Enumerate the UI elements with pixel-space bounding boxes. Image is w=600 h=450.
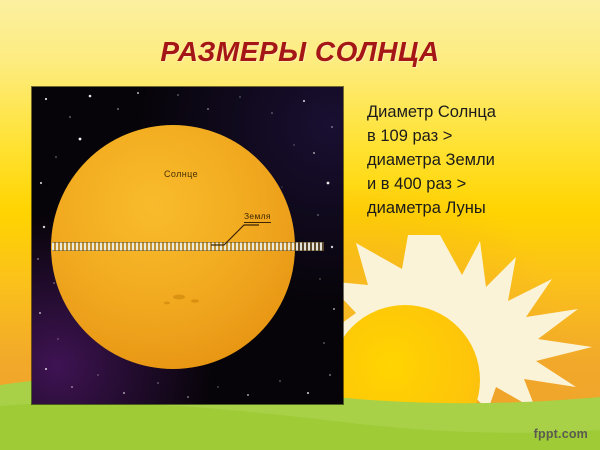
body-line-4: и в 400 раз >: [367, 172, 592, 196]
body-line-2: в 109 раз >: [367, 124, 592, 148]
body-line-1: Диаметр Солнца: [367, 100, 592, 124]
earth-leader-line: [210, 217, 260, 247]
sun-label: Солнце: [164, 169, 198, 179]
body-text: Диаметр Солнца в 109 раз > диаметра Земл…: [367, 100, 592, 220]
watermark-fppt: fppt.com: [534, 427, 588, 441]
slide-canvas: РАЗМЕРЫ СОЛНЦА Диаметр Солнца в 109 раз …: [0, 0, 600, 450]
body-line-3: диаметра Земли: [367, 148, 592, 172]
page-title: РАЗМЕРЫ СОЛНЦА: [0, 36, 600, 68]
sun-photo-panel: Солнце Земля: [32, 87, 343, 404]
earth-row-scale: [52, 242, 324, 251]
body-line-5: диаметра Луны: [367, 196, 592, 220]
